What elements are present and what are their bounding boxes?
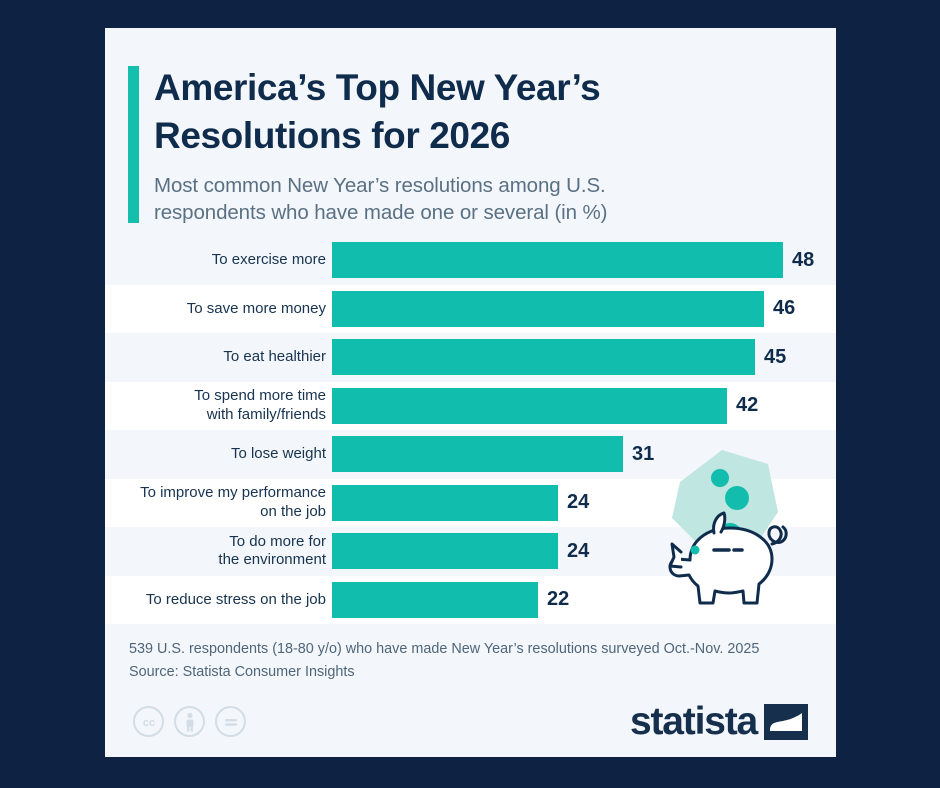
bar-label: To improve my performance on the job <box>110 484 332 521</box>
statista-s-mark-icon <box>764 704 808 740</box>
bar-value: 48 <box>792 249 814 272</box>
bar <box>332 242 783 278</box>
svg-text:cc: cc <box>142 717 154 729</box>
bar-group: 31 <box>332 436 654 472</box>
bar-value: 24 <box>567 540 589 563</box>
bar <box>332 291 764 327</box>
bar <box>332 339 755 375</box>
bar-value: 31 <box>632 443 654 466</box>
bar-value: 45 <box>764 346 786 369</box>
bar-group: 46 <box>332 291 795 327</box>
cc-by-person-icon[interactable] <box>174 706 205 737</box>
chart-row: To save more money 46 <box>105 285 836 334</box>
bar-group: 22 <box>332 582 569 618</box>
page-title: America’s Top New Year’s Resolutions for… <box>154 64 808 160</box>
bar <box>332 485 558 521</box>
creative-commons-icons: cc <box>133 706 246 737</box>
chart-row: To lose weight 31 <box>105 430 836 479</box>
bar-value: 46 <box>773 297 795 320</box>
statista-logo[interactable]: statista <box>630 702 808 741</box>
source-line: Source: Statista Consumer Insights <box>129 661 812 684</box>
cc-nd-equals-icon[interactable] <box>215 706 246 737</box>
accent-bar <box>128 66 139 223</box>
bar-label: To do more for the environment <box>110 533 332 570</box>
bar-label: To spend more time with family/friends <box>110 387 332 424</box>
footer-bottom: cc <box>129 702 812 741</box>
bar <box>332 582 538 618</box>
statista-wordmark: statista <box>630 702 757 741</box>
header: America’s Top New Year’s Resolutions for… <box>105 28 836 236</box>
chart-row: To improve my performance on the job 24 <box>105 479 836 528</box>
chart-row: To exercise more 48 <box>105 236 836 285</box>
bar-group: 48 <box>332 242 814 278</box>
bar-label: To eat healthier <box>110 348 332 366</box>
cc-icon[interactable]: cc <box>133 706 164 737</box>
bar-label: To reduce stress on the job <box>110 591 332 609</box>
chart-row: To spend more time with family/friends 4… <box>105 382 836 431</box>
bar-label: To exercise more <box>110 251 332 269</box>
footer: 539 U.S. respondents (18‑80 y/o) who hav… <box>105 624 836 741</box>
chart-row: To do more for the environment 24 <box>105 527 836 576</box>
bar-label: To save more money <box>110 300 332 318</box>
survey-note: 539 U.S. respondents (18‑80 y/o) who hav… <box>129 638 812 661</box>
bar-value: 42 <box>736 394 758 417</box>
bar-value: 22 <box>547 588 569 611</box>
chart-row: To eat healthier 45 <box>105 333 836 382</box>
bar-chart: To exercise more 48 To save more money 4… <box>105 236 836 624</box>
bar-group: 42 <box>332 388 758 424</box>
bar-group: 45 <box>332 339 786 375</box>
page-subtitle: Most common New Year’s resolutions among… <box>154 172 808 227</box>
infographic-card: America’s Top New Year’s Resolutions for… <box>105 28 836 757</box>
bar-group: 24 <box>332 533 589 569</box>
bar-label: To lose weight <box>110 445 332 463</box>
bar <box>332 436 623 472</box>
chart-row: To reduce stress on the job 22 <box>105 576 836 625</box>
bar <box>332 533 558 569</box>
bar <box>332 388 727 424</box>
bar-value: 24 <box>567 491 589 514</box>
bar-group: 24 <box>332 485 589 521</box>
